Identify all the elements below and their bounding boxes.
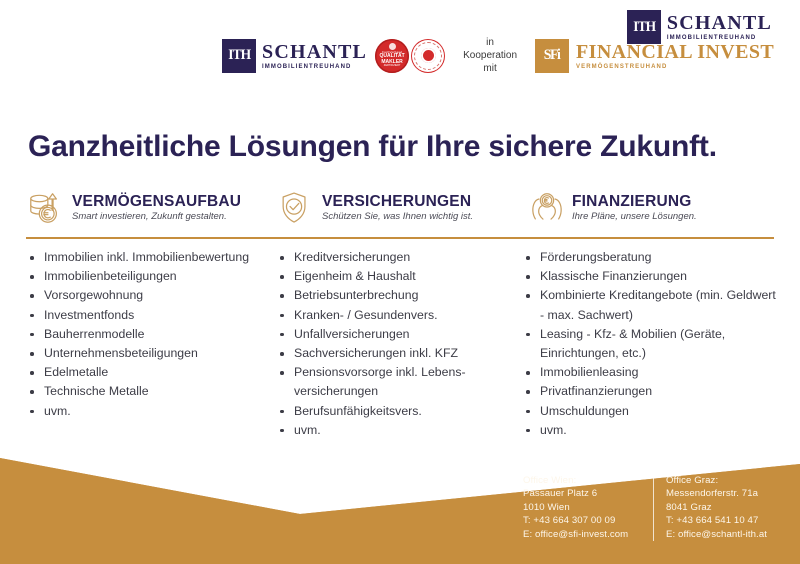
- seal-emblem-dot: [389, 43, 396, 50]
- list-item: uvm.: [276, 421, 522, 440]
- coins-euro-growth-icon: [26, 190, 64, 226]
- list-item-label: Betriebsunterbrechung: [294, 286, 522, 305]
- wirtschaftskammer-seal-icon: [411, 39, 445, 73]
- sfi-logo-badge: SFi: [535, 39, 569, 73]
- column-header: VERSICHERUNGEN Schützen Sie, was Ihnen w…: [276, 188, 526, 228]
- list-item-label: Unfallversicherungen: [294, 325, 522, 344]
- gold-divider-rule: [26, 237, 774, 239]
- list-item: uvm.: [522, 421, 778, 440]
- list-item-label: Pensionsvorsorge inkl. Lebens-versicheru…: [294, 363, 522, 401]
- sfi-monogram: SFi: [544, 48, 560, 63]
- list-item-label: uvm.: [540, 421, 778, 440]
- column-title: FINANZIERUNG: [572, 193, 697, 210]
- ith-logo-badge-secondary: ITH: [627, 10, 661, 44]
- list-item-label: Investmentfonds: [44, 306, 276, 325]
- service-column-versicherungen: VERSICHERUNGEN Schützen Sie, was Ihnen w…: [276, 188, 526, 228]
- column-tagline: Smart investieren, Zukunft gestalten.: [72, 212, 241, 222]
- office-title: Office Graz:: [666, 474, 767, 487]
- office-email[interactable]: E: office@sfi-invest.com: [523, 528, 653, 541]
- service-column-vermoegensaufbau: VERMÖGENSAUFBAU Smart investieren, Zukun…: [26, 188, 276, 228]
- bullet-list: Kreditversicherungen Eigenheim & Haushal…: [276, 248, 522, 440]
- list-item-label: uvm.: [294, 421, 522, 440]
- poster-root: ITH SCHANTL IMMOBILIENTREUHAND FachVerba…: [0, 0, 800, 564]
- list-column-finanzierung: Förderungsberatung Klassische Finanzieru…: [522, 248, 778, 440]
- column-tagline: Schützen Sie, was Ihnen wichtig ist.: [322, 212, 473, 222]
- ith-logo-wordmark-secondary: SCHANTL IMMOBILIENTREUHAND: [667, 13, 772, 41]
- list-item: Förderungsberatung: [522, 248, 778, 267]
- header-logo-row: ITH SCHANTL IMMOBILIENTREUHAND FachVerba…: [0, 0, 800, 112]
- ith-monogram: ITH: [228, 48, 250, 63]
- ith-logo-badge: ITH: [222, 39, 256, 73]
- list-item: Unfallversicherungen: [276, 325, 522, 344]
- list-item: Privatfinanzierungen: [522, 382, 778, 401]
- column-title-block: FINANZIERUNG Ihre Pläne, unsere Lösungen…: [572, 193, 697, 222]
- ith-logo-name: SCHANTL: [262, 42, 367, 62]
- list-item: Technische Metalle: [26, 382, 276, 401]
- service-column-finanzierung: FINANZIERUNG Ihre Pläne, unsere Lösungen…: [526, 188, 776, 228]
- office-title: Office Wien:: [523, 474, 653, 487]
- list-item-label: Förderungsberatung: [540, 248, 778, 267]
- column-title: VERMÖGENSAUFBAU: [72, 193, 241, 210]
- list-item: Immobilienleasing: [522, 363, 778, 382]
- logo-top-right: ITH SCHANTL IMMOBILIENTREUHAND: [627, 10, 772, 44]
- seal-line-4: ZERTIFIZIERT: [384, 65, 401, 68]
- list-item: Betriebsunterbrechung: [276, 286, 522, 305]
- list-item: uvm.: [26, 402, 276, 421]
- list-item-label: Bauherrenmodelle: [44, 325, 276, 344]
- column-header: VERMÖGENSAUFBAU Smart investieren, Zukun…: [26, 188, 276, 228]
- list-item-label: Immobilienleasing: [540, 363, 778, 382]
- footer-contact: Office Wien: Passauer Platz 6 1010 Wien …: [523, 474, 767, 541]
- seal-ring: [414, 42, 442, 70]
- office-city: 8041 Graz: [666, 501, 767, 514]
- office-phone[interactable]: T: +43 664 541 10 47: [666, 514, 767, 527]
- office-city: 1010 Wien: [523, 501, 653, 514]
- list-item: Pensionsvorsorge inkl. Lebens-versicheru…: [276, 363, 522, 401]
- sfi-logo-name: FINANCIAL INVEST: [576, 42, 774, 62]
- sfi-logo-wordmark: FINANCIAL INVEST VERMÖGENSTREUHAND: [576, 42, 774, 70]
- office-block-wien: Office Wien: Passauer Platz 6 1010 Wien …: [523, 474, 653, 541]
- list-item: Vorsorgewohnung: [26, 286, 276, 305]
- list-item-label: Klassische Finanzierungen: [540, 267, 778, 286]
- list-item: Kombinierte Kreditangebote (min. Geldwer…: [522, 286, 778, 324]
- column-header: FINANZIERUNG Ihre Pläne, unsere Lösungen…: [526, 188, 776, 228]
- column-title: VERSICHERUNGEN: [322, 193, 473, 210]
- list-item-label: Umschuldungen: [540, 402, 778, 421]
- ith-logo-name-secondary: SCHANTL: [667, 13, 772, 33]
- list-item-label: Kreditversicherungen: [294, 248, 522, 267]
- bullet-list: Förderungsberatung Klassische Finanzieru…: [522, 248, 778, 440]
- list-item: Sachversicherungen inkl. KFZ: [276, 344, 522, 363]
- list-item-label: Leasing - Kfz- & Mobilien (Geräte, Einri…: [540, 325, 778, 363]
- list-item-label: Immobilien inkl. Immobilienbewertung: [44, 248, 276, 267]
- list-item-label: uvm.: [44, 402, 276, 421]
- ith-logo-subtitle-secondary: IMMOBILIENTREUHAND: [667, 35, 772, 41]
- column-title-block: VERMÖGENSAUFBAU Smart investieren, Zukun…: [72, 193, 241, 222]
- certification-seals: FachVerband QUALITÄT MAKLER ZERTIFIZIERT: [375, 39, 445, 73]
- list-item-label: Immobilienbeteiligungen: [44, 267, 276, 286]
- list-item-label: Sachversicherungen inkl. KFZ: [294, 344, 522, 363]
- ith-logo-wordmark: SCHANTL IMMOBILIENTREUHAND: [262, 42, 367, 70]
- page-headline: Ganzheitliche Lösungen für Ihre sichere …: [28, 130, 717, 164]
- list-column-vermoegensaufbau: Immobilien inkl. Immobilienbewertung Imm…: [26, 248, 276, 440]
- ith-monogram-secondary: ITH: [633, 20, 655, 35]
- list-item: Immobilienbeteiligungen: [26, 267, 276, 286]
- list-item-label: Eigenheim & Haushalt: [294, 267, 522, 286]
- service-column-headers: VERMÖGENSAUFBAU Smart investieren, Zukun…: [26, 188, 776, 228]
- qualitaets-makler-seal-icon: FachVerband QUALITÄT MAKLER ZERTIFIZIERT: [375, 39, 409, 73]
- list-item-label: Unternehmensbeteiligungen: [44, 344, 276, 363]
- list-item: Bauherrenmodelle: [26, 325, 276, 344]
- column-title-block: VERSICHERUNGEN Schützen Sie, was Ihnen w…: [322, 193, 473, 222]
- list-item: Edelmetalle: [26, 363, 276, 382]
- list-item: Unternehmensbeteiligungen: [26, 344, 276, 363]
- hands-holding-coin-icon: [526, 190, 564, 226]
- seal-inner-emblem: [421, 48, 436, 63]
- list-item-label: Vorsorgewohnung: [44, 286, 276, 305]
- ith-logo-subtitle: IMMOBILIENTREUHAND: [262, 64, 367, 70]
- list-item: Klassische Finanzierungen: [522, 267, 778, 286]
- list-item-label: Kranken- / Gesundenvers.: [294, 306, 522, 325]
- cooperation-label: in Kooperation mit: [463, 36, 517, 75]
- list-item-label: Edelmetalle: [44, 363, 276, 382]
- office-phone[interactable]: T: +43 664 307 00 09: [523, 514, 653, 527]
- list-column-versicherungen: Kreditversicherungen Eigenheim & Haushal…: [276, 248, 522, 440]
- sfi-logo-subtitle: VERMÖGENSTREUHAND: [576, 64, 774, 70]
- list-item: Leasing - Kfz- & Mobilien (Geräte, Einri…: [522, 325, 778, 363]
- list-item: Kreditversicherungen: [276, 248, 522, 267]
- list-item: Umschuldungen: [522, 402, 778, 421]
- bullet-list: Immobilien inkl. Immobilienbewertung Imm…: [26, 248, 276, 421]
- service-lists: Immobilien inkl. Immobilienbewertung Imm…: [26, 248, 778, 440]
- list-item: Investmentfonds: [26, 306, 276, 325]
- shield-check-icon: [276, 190, 314, 226]
- list-item-label: Privatfinanzierungen: [540, 382, 778, 401]
- list-item: Eigenheim & Haushalt: [276, 267, 522, 286]
- list-item: Immobilien inkl. Immobilienbewertung: [26, 248, 276, 267]
- column-tagline: Ihre Pläne, unsere Lösungen.: [572, 212, 697, 222]
- list-item-label: Berufsunfähigkeitsvers.: [294, 402, 522, 421]
- office-street: Passauer Platz 6: [523, 487, 653, 500]
- list-item-label: Technische Metalle: [44, 382, 276, 401]
- office-block-graz: Office Graz: Messendorferstr. 71a 8041 G…: [653, 474, 767, 541]
- office-street: Messendorferstr. 71a: [666, 487, 767, 500]
- list-item-label: Kombinierte Kreditangebote (min. Geldwer…: [540, 286, 778, 324]
- cooperation-line-1: in: [463, 36, 517, 49]
- list-item: Berufsunfähigkeitsvers.: [276, 402, 522, 421]
- cooperation-line-3: mit: [463, 62, 517, 75]
- cooperation-line-2: Kooperation: [463, 49, 517, 62]
- office-email[interactable]: E: office@schantl-ith.at: [666, 528, 767, 541]
- list-item: Kranken- / Gesundenvers.: [276, 306, 522, 325]
